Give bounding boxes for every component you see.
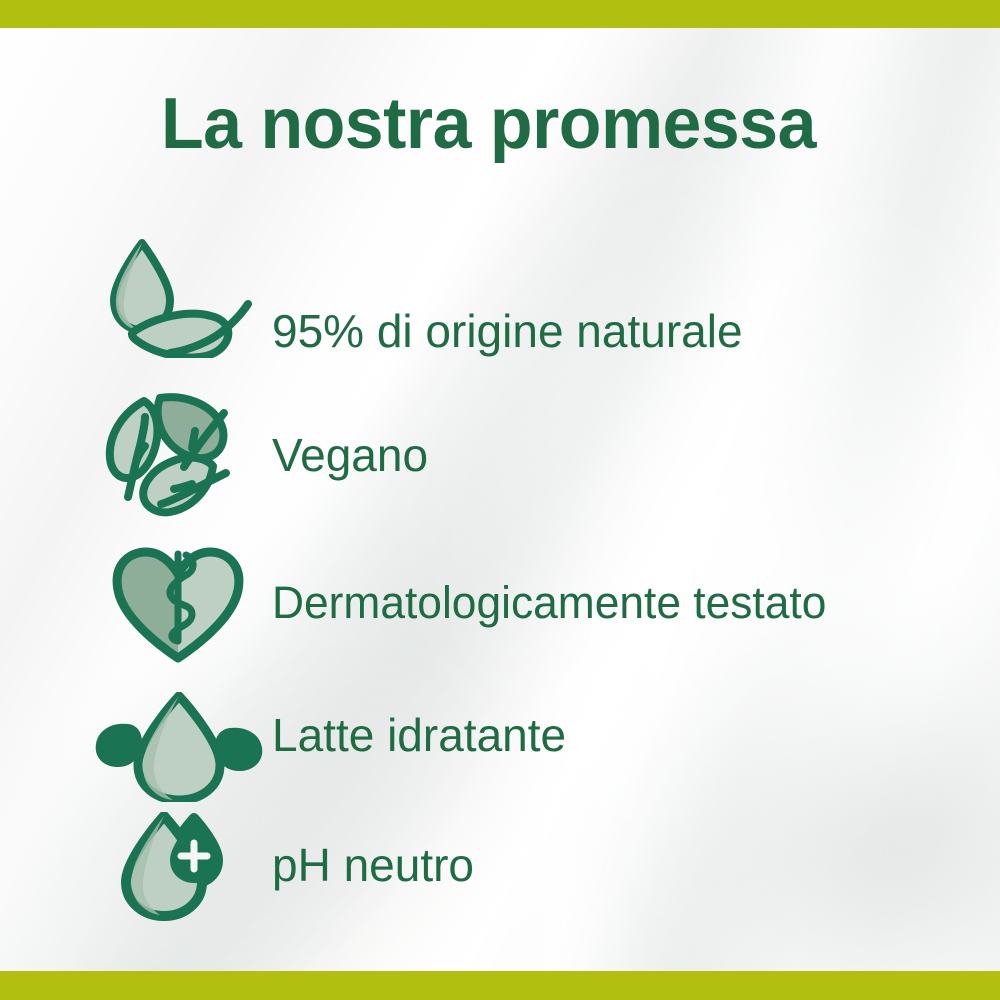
- page-title: La nostra promessa: [161, 84, 816, 164]
- poster-content: La nostra promessa 95% di origine natura: [0, 0, 1000, 1000]
- list-item-label: 95% di origine naturale: [272, 306, 743, 356]
- list-item-label: pH neutro: [272, 840, 474, 890]
- droplet-leaf-icon: [98, 228, 258, 358]
- bottom-accent-bar: [0, 971, 1000, 1000]
- list-item-label: Vegano: [272, 430, 428, 480]
- droplet-plus-icon: [112, 812, 247, 922]
- list-item-label: Latte idratante: [272, 710, 566, 760]
- top-accent-bar: [0, 0, 1000, 28]
- promise-poster: La nostra promessa 95% di origine natura: [0, 0, 1000, 1000]
- droplet-two-leaves-icon: [92, 692, 267, 802]
- heart-caduceus-icon: [108, 546, 248, 666]
- three-leaves-circle-icon: [100, 388, 255, 523]
- list-item-label: Dermatologicamente testato: [272, 578, 826, 628]
